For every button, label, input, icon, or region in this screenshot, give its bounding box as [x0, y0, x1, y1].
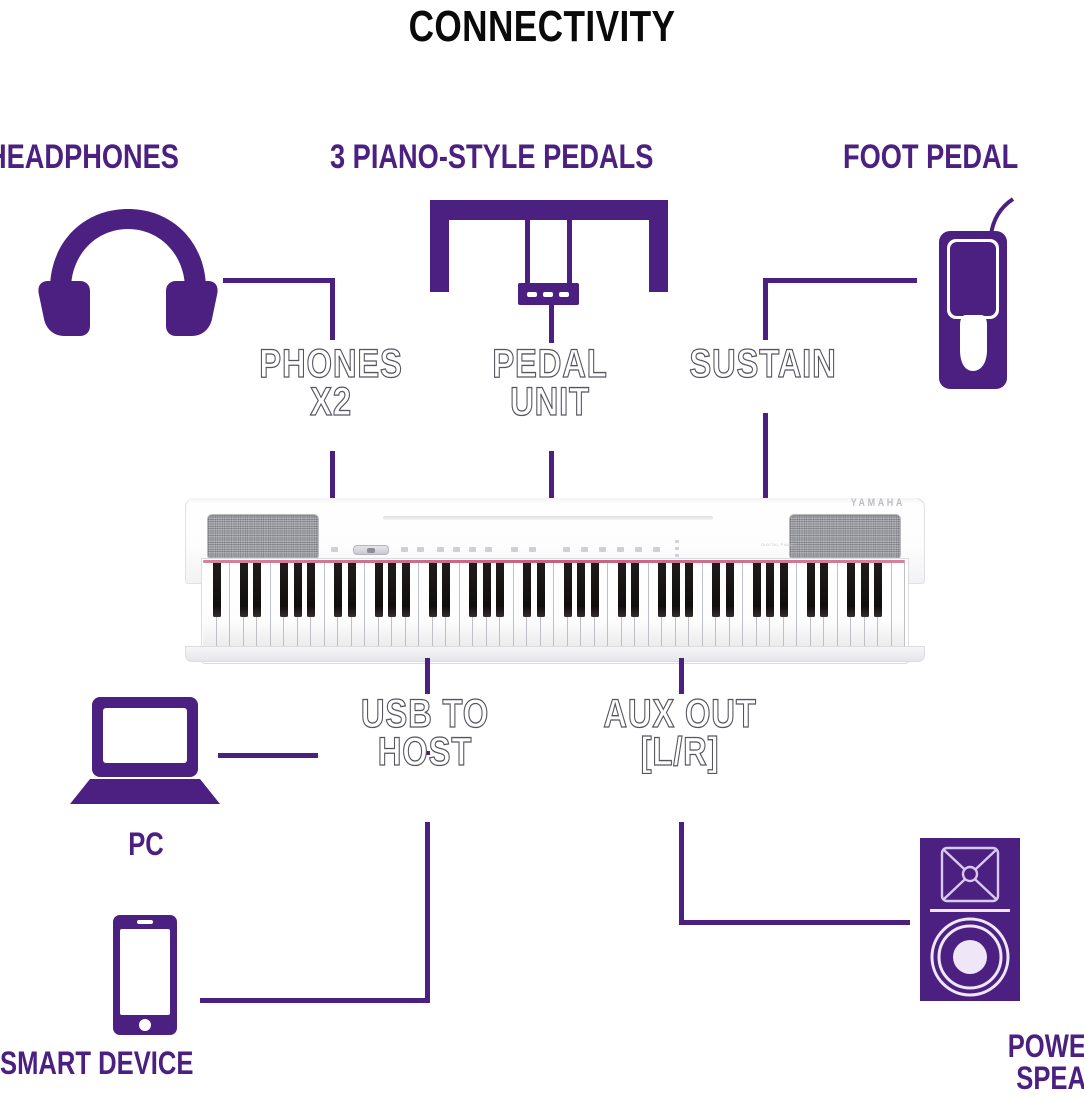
- piano-black-key: [348, 563, 356, 617]
- port-label-usb-to-host: USB TO HOST: [343, 695, 507, 772]
- piano-black-key: [874, 563, 882, 617]
- connector-pedal-unit-to-piano: [549, 451, 554, 499]
- piano-black-key: [388, 563, 396, 617]
- piano-black-key: [672, 563, 680, 617]
- piano-black-key: [577, 563, 585, 617]
- piano-black-key: [658, 563, 666, 617]
- piano-brand-logo: YAMAHA: [851, 496, 905, 509]
- piano-black-key: [334, 563, 342, 617]
- connector-pedal-unit-top: [549, 305, 554, 343]
- connector-aux-to-speaker: [679, 920, 910, 925]
- piano-black-key: [766, 563, 774, 617]
- piano-black-key: [807, 563, 815, 617]
- piano-keys: [203, 563, 905, 648]
- laptop-icon: [70, 697, 220, 807]
- powered-speaker-icon: [920, 838, 1020, 1001]
- connector-foot-pedal-horizontal: [763, 278, 917, 283]
- piano-black-key: [618, 563, 626, 617]
- piano-black-key: [294, 563, 302, 617]
- piano-black-key: [861, 563, 869, 617]
- piano-black-key: [253, 563, 261, 617]
- piano-black-key: [429, 563, 437, 617]
- foot-pedal-icon: [925, 195, 1035, 395]
- piano-black-key: [469, 563, 477, 617]
- piano-base: [185, 646, 925, 662]
- device-label-powered-speaker: POWERED SPEAKER: [876, 1030, 1084, 1094]
- port-label-sustain: SUSTAIN: [681, 345, 845, 383]
- piano-display-slot: [383, 516, 713, 520]
- connector-smart-device-horizontal: [200, 998, 430, 1003]
- piano-black-key: [631, 563, 639, 617]
- piano-black-key: [780, 563, 788, 617]
- port-label-phones: PHONES X2: [248, 345, 414, 422]
- piano-black-key: [483, 563, 491, 617]
- piano-black-key: [753, 563, 761, 617]
- piano-black-key: [240, 563, 248, 617]
- headphones-icon: [38, 205, 218, 340]
- port-label-aux-out: AUX OUT [L/R]: [598, 695, 762, 772]
- pedal-unit-icon: [430, 200, 668, 305]
- piano-volume-slider: [353, 545, 389, 555]
- piano-black-key: [307, 563, 315, 617]
- piano-black-key: [496, 563, 504, 617]
- piano-black-key: [591, 563, 599, 617]
- device-label-smart-device: SMART DEVICE: [0, 1047, 240, 1079]
- header-foot-pedal: FOOT PEDAL: [843, 140, 1018, 174]
- header-headphones: HEADPHONES: [0, 140, 179, 174]
- connector-foot-pedal-vertical: [763, 278, 768, 340]
- piano-black-key: [685, 563, 693, 617]
- connector-usb-to-pc: [218, 753, 318, 758]
- piano-black-key: [820, 563, 828, 617]
- piano-black-key: [375, 563, 383, 617]
- piano-black-key: [847, 563, 855, 617]
- piano-control-panel: [325, 538, 665, 558]
- piano-black-key: [564, 563, 572, 617]
- connector-sustain-to-piano: [763, 413, 768, 499]
- port-label-pedal-unit: PEDAL UNIT: [468, 345, 632, 422]
- piano-black-key: [537, 563, 545, 617]
- piano-black-key: [726, 563, 734, 617]
- piano-black-key: [280, 563, 288, 617]
- header-piano-style-pedals: 3 PIANO-STYLE PEDALS: [330, 140, 653, 174]
- piano-speaker-grille-right: [789, 514, 901, 560]
- piano-model-text: DIGITAL PIANO: [761, 542, 795, 547]
- connectivity-diagram: CONNECTIVITY HEADPHONES 3 PIANO-STYLE PE…: [0, 0, 1084, 1098]
- connector-piano-to-usb: [425, 658, 430, 694]
- piano-black-key: [213, 563, 221, 617]
- smartphone-icon: [110, 915, 180, 1035]
- digital-piano-icon: YAMAHA YAMAHA DIGITAL PIANO: [185, 494, 923, 666]
- device-label-pc: PC: [114, 828, 178, 860]
- page-title: CONNECTIVITY: [108, 2, 975, 52]
- connector-headphones-horizontal: [223, 278, 335, 283]
- connector-piano-to-aux: [679, 658, 684, 694]
- connector-phones-to-piano: [330, 451, 335, 499]
- connector-aux-down: [679, 822, 684, 925]
- connector-headphones-vertical: [330, 278, 335, 340]
- piano-speaker-grille-left: [207, 514, 319, 560]
- piano-top-edge: [187, 498, 921, 505]
- piano-black-key: [523, 563, 531, 617]
- piano-white-key: [892, 563, 906, 647]
- piano-black-key: [442, 563, 450, 617]
- piano-black-key: [402, 563, 410, 617]
- connector-usb-down: [425, 822, 430, 1002]
- piano-black-key: [712, 563, 720, 617]
